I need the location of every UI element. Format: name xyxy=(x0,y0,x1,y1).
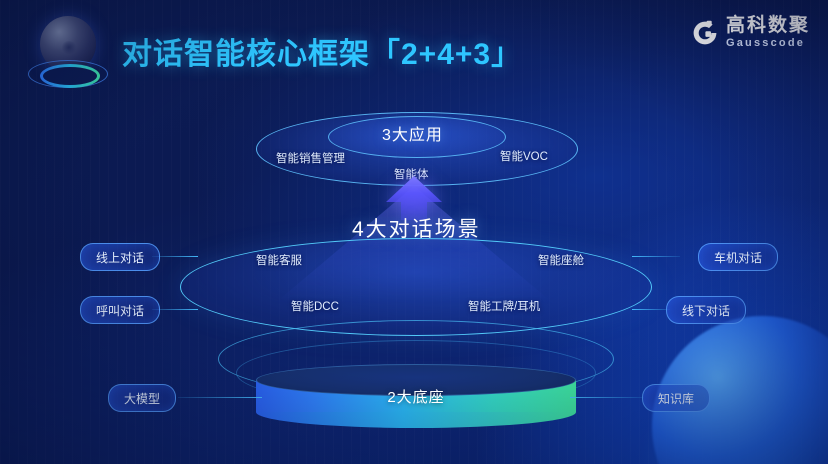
side-label-large-model[interactable]: 大模型 xyxy=(108,384,176,412)
applications-title: 3大应用 xyxy=(382,121,443,145)
sphere-orb-icon xyxy=(26,14,108,100)
scenarios-title: 4大对话场景 xyxy=(352,213,481,243)
gausscode-logo-icon xyxy=(691,19,719,47)
foundation-cylinder: 2大底座 xyxy=(256,364,576,428)
scenario-item-dcc: 智能DCC xyxy=(291,298,339,314)
brand-name-cn: 高科数聚 xyxy=(726,16,810,35)
side-label-call-chat[interactable]: 呼叫对话 xyxy=(80,296,160,324)
brand-logo: 高科数聚 Gausscode xyxy=(691,16,810,49)
side-label-knowledge-base[interactable]: 知识库 xyxy=(642,384,710,412)
foundation-title: 2大底座 xyxy=(256,364,576,428)
application-item-voc: 智能VOC xyxy=(500,148,548,164)
scenario-item-badge: 智能工牌/耳机 xyxy=(468,298,540,314)
side-label-invehicle-chat[interactable]: 车机对话 xyxy=(698,243,778,271)
sphere-gradient-ring xyxy=(40,64,100,88)
side-label-offline-chat[interactable]: 线下对话 xyxy=(666,296,746,324)
page-title: 对话智能核心框架「2+4+3」 xyxy=(122,29,522,73)
scenario-item-cockpit: 智能座舱 xyxy=(538,252,584,268)
slide-canvas: 对话智能核心框架「2+4+3」 高科数聚 Gausscode 3大应用 智能销售… xyxy=(0,0,828,464)
lead-line-left-3 xyxy=(178,397,262,398)
application-item-sales: 智能销售管理 xyxy=(276,150,345,166)
lead-line-right-1 xyxy=(632,256,680,257)
scenario-item-service: 智能客服 xyxy=(256,252,302,268)
lead-line-right-2 xyxy=(632,309,670,310)
brand-text: 高科数聚 Gausscode xyxy=(726,16,810,49)
side-label-online-chat[interactable]: 线上对话 xyxy=(80,243,160,271)
lead-line-right-3 xyxy=(570,397,644,398)
brand-name-en: Gausscode xyxy=(726,38,810,49)
